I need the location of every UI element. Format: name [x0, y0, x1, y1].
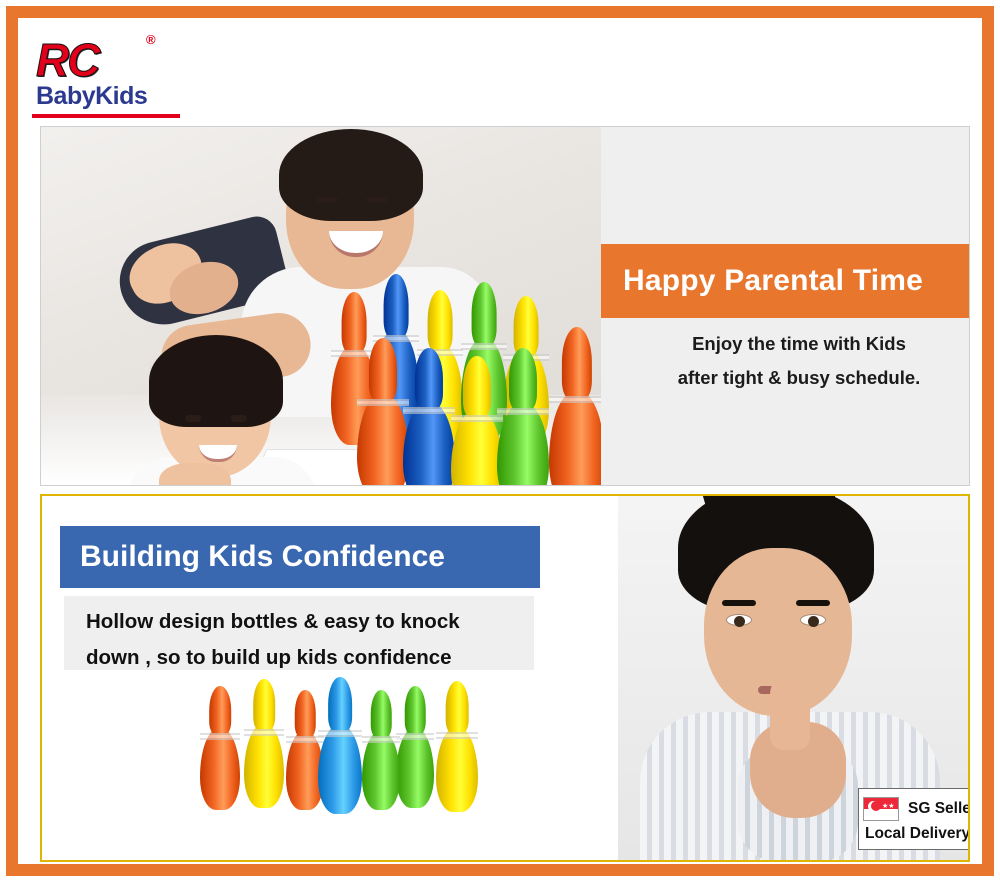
building-kids-confidence-banner: Building Kids Confidence	[60, 526, 540, 588]
thumbs-up-icon	[770, 674, 810, 750]
singapore-flag-icon: ★★	[863, 797, 899, 821]
registered-trademark-icon: ®	[146, 32, 156, 47]
sg-seller-label: SG Seller	[899, 800, 970, 818]
bowling-pins-group-top	[317, 255, 597, 485]
top-subtitle: Enjoy the time with Kids after tight & b…	[619, 327, 970, 395]
bowling-pin-neck	[463, 356, 491, 417]
bowling-pin	[318, 726, 362, 814]
bowling-pin-neck	[514, 296, 539, 356]
bowling-pin-ring	[396, 733, 434, 740]
bowling-pin	[362, 732, 400, 810]
bowling-pin-neck	[209, 686, 231, 735]
bowling-pin-neck	[328, 677, 352, 731]
dad-eye-right	[366, 197, 388, 202]
bowling-pin-ring	[461, 343, 507, 350]
boy-eyebrow-right	[796, 600, 830, 606]
bowling-pin-ring	[200, 733, 240, 740]
girl-fringe	[159, 375, 271, 401]
bowling-pin-neck	[428, 290, 453, 351]
bowling-pin-neck	[342, 292, 367, 352]
bowling-pin-neck	[253, 679, 275, 729]
brand-logo[interactable]: RC ® BabyKids	[32, 30, 192, 122]
bowling-pin	[244, 725, 284, 808]
dad-hair	[279, 129, 423, 221]
bowling-pin-neck	[415, 348, 443, 409]
top-banner-label: Happy Parental Time	[601, 264, 923, 298]
bowling-pin-neck	[405, 686, 426, 734]
sg-badge-row-top: ★★ SG Seller	[859, 795, 970, 823]
girl-eye-right	[231, 415, 247, 422]
bowling-pin-neck	[562, 327, 592, 398]
flag-crescent-cut	[871, 801, 881, 811]
logo-underline	[32, 114, 180, 118]
top-promo-panel: Happy Parental Time Enjoy the time with …	[40, 126, 970, 486]
bowling-pin-ring	[403, 407, 455, 414]
logo-rc-box: RC	[36, 34, 148, 86]
bottom-subtitle: Hollow design bottles & easy to knock do…	[64, 596, 534, 670]
local-delivery-label: Local Delivery	[859, 825, 970, 843]
boy-pupil-right	[808, 616, 819, 627]
logo-babykids-text: BabyKids	[36, 82, 147, 111]
bowling-pin-neck	[509, 348, 537, 410]
bowling-pin-ring	[318, 730, 362, 737]
bowling-pin-ring	[244, 729, 284, 736]
boy-hair-spike-3	[772, 496, 801, 507]
content-area: RC ® BabyKids	[18, 18, 982, 864]
bowling-pin-neck	[446, 681, 469, 732]
bowling-pin	[396, 729, 434, 808]
boy-thumbs-up-photo: ★★ SG Seller Local Delivery	[618, 496, 970, 860]
boy-eyebrow-left	[722, 600, 756, 606]
dad-eye-left	[316, 197, 338, 202]
girl-hands	[159, 463, 231, 485]
flag-stars-icon: ★★	[882, 803, 895, 810]
bowling-pin-neck	[369, 338, 397, 401]
father-daughter-photo	[41, 127, 601, 485]
bowling-pin-neck	[295, 690, 316, 737]
bowling-pin-neck	[472, 282, 497, 345]
bowling-pin-neck	[371, 690, 392, 737]
bowling-pin	[436, 728, 478, 812]
bowling-pin-ring	[451, 415, 503, 422]
bowling-pin	[200, 729, 240, 810]
top-subtitle-line1: Enjoy the time with Kids	[619, 327, 970, 361]
bowling-pin	[549, 392, 601, 485]
bowling-pin-ring	[362, 736, 400, 743]
logo-rc-text: RC	[36, 34, 98, 86]
boy-pupil-left	[734, 616, 745, 627]
bowling-pin-ring	[549, 396, 601, 403]
bowling-pin-ring	[286, 736, 324, 743]
bowling-pin-ring	[436, 732, 478, 739]
bottom-banner-label: Building Kids Confidence	[60, 540, 445, 574]
bowling-pin-ring	[497, 408, 549, 415]
bottom-subtitle-line1: Hollow design bottles & easy to knock	[86, 604, 524, 640]
girl-eye-left	[185, 415, 201, 422]
bowling-pins-group-bottom	[192, 668, 492, 848]
bottom-promo-panel: Building Kids Confidence Hollow design b…	[40, 494, 970, 862]
bowling-pin-ring	[357, 399, 409, 406]
outer-orange-frame: RC ® BabyKids	[6, 6, 994, 876]
top-subtitle-line2: after tight & busy schedule.	[619, 361, 970, 395]
bowling-pin-neck	[384, 274, 409, 337]
happy-parental-time-banner: Happy Parental Time	[601, 244, 969, 318]
sg-seller-badge: ★★ SG Seller Local Delivery	[858, 788, 970, 850]
promo-banner-page: RC ® BabyKids	[0, 0, 1000, 882]
